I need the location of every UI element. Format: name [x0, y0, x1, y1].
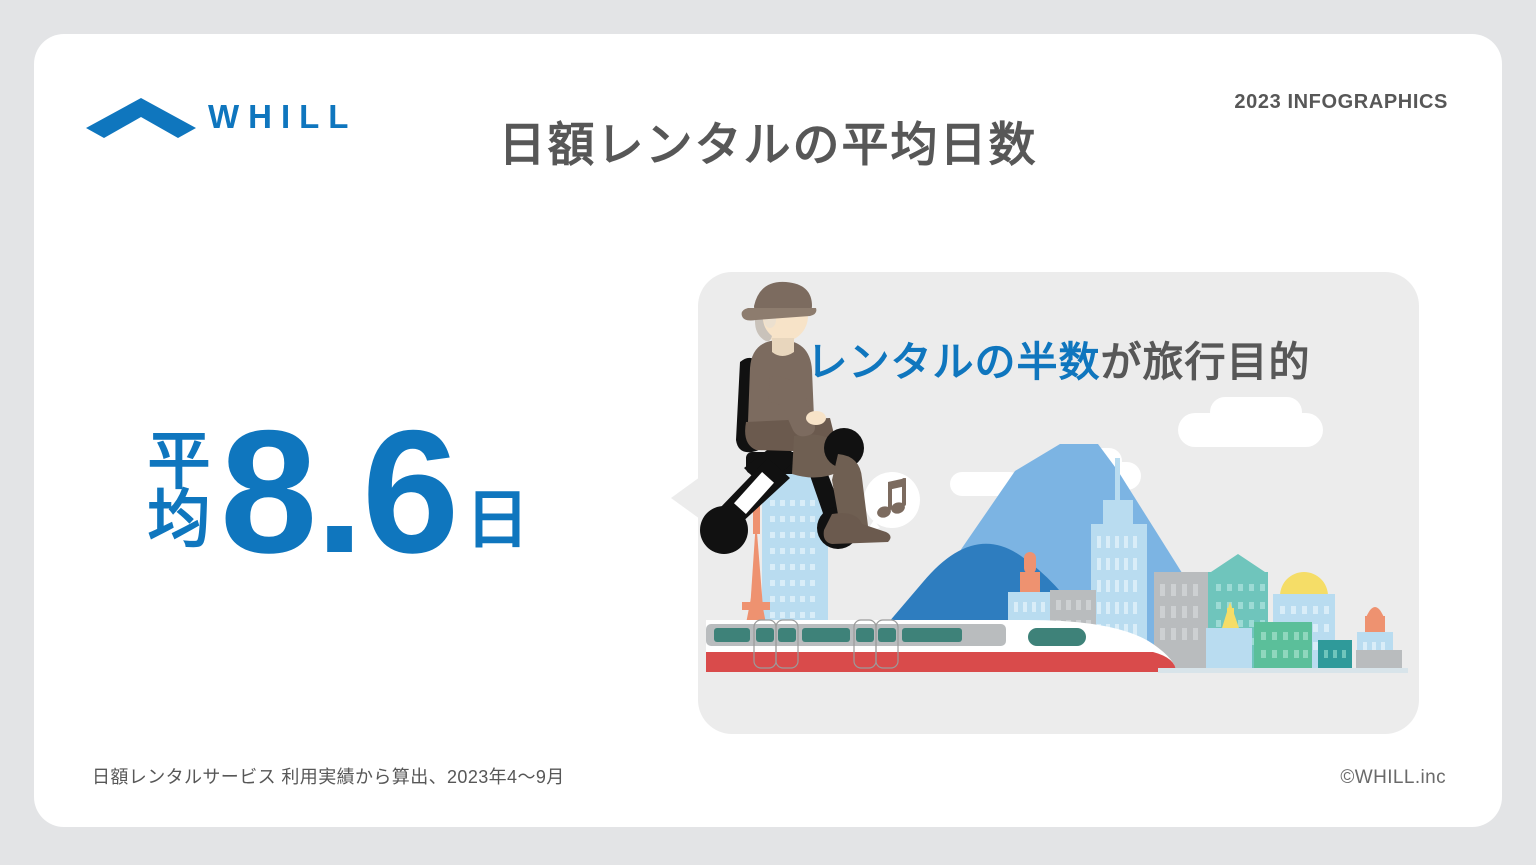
callout-heading: レンタルの半数が旅行目的: [698, 328, 1419, 388]
footer-copyright: ©WHILL.inc: [1340, 767, 1446, 789]
building-dark-teal-slim: [1318, 640, 1352, 672]
speech-bubble-tail: [671, 477, 700, 519]
callout-rest: が旅行目的: [1101, 339, 1311, 385]
stat-prefix-line1: 平: [144, 434, 214, 492]
page-title: 日額レンタルの平均日数: [34, 106, 1502, 175]
building-green: [1254, 622, 1312, 672]
clouds-group: [950, 397, 1323, 496]
stat-unit: 日: [465, 488, 529, 564]
speech-bubble: レンタルの半数が旅行目的: [698, 272, 1419, 734]
stat-value: 8.6: [220, 421, 457, 565]
average-days-statistic: 平 均 8.6 日: [144, 374, 644, 564]
footer-source-note: 日額レンタルサービス 利用実績から算出、2023年4〜9月: [92, 763, 565, 789]
infographic-canvas: WHILL 日額レンタルの平均日数 2023 INFOGRAPHICS 平 均 …: [0, 0, 1536, 865]
callout-highlight: レンタルの半数: [807, 339, 1101, 385]
infographics-label: 2023 INFOGRAPHICS: [1234, 91, 1448, 114]
shinkansen-train: [706, 620, 1176, 672]
ground-line: [1158, 668, 1408, 673]
music-note-bubble: [864, 472, 920, 532]
stat-prefix-line2: 均: [144, 492, 214, 550]
stat-prefix: 平 均: [144, 434, 214, 564]
content-card: WHILL 日額レンタルの平均日数 2023 INFOGRAPHICS 平 均 …: [34, 34, 1502, 827]
